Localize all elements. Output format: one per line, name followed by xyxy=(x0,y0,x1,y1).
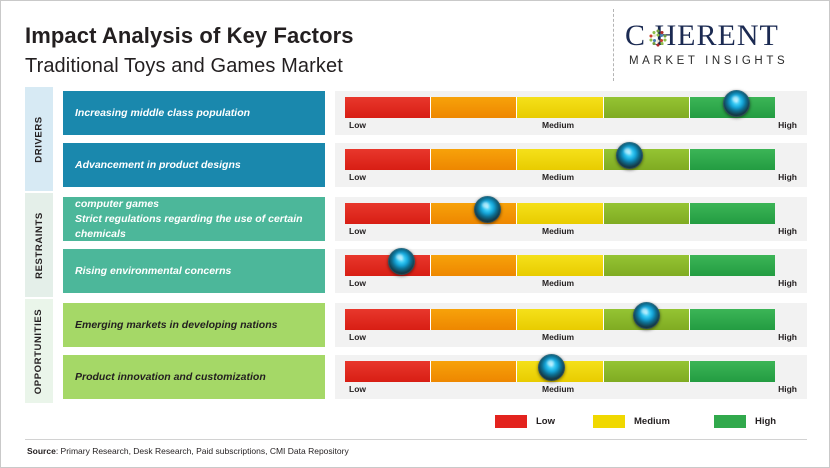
source-text: : Primary Research, Desk Research, Paid … xyxy=(56,446,349,456)
impact-matrix: DRIVERS Increasing middle class populati… xyxy=(1,87,830,407)
scale-segment-3 xyxy=(517,97,603,118)
scale-segment-1 xyxy=(345,361,431,382)
scale-segment-1 xyxy=(345,97,431,118)
gradient-bar xyxy=(345,203,775,224)
tick-low: Low xyxy=(349,120,366,130)
scale-segment-4 xyxy=(604,361,690,382)
gradient-bar xyxy=(345,97,775,118)
tick-medium: Medium xyxy=(542,384,574,394)
tick-high: High xyxy=(778,384,797,394)
scale-segment-1 xyxy=(345,149,431,170)
scale-segment-5 xyxy=(690,309,775,330)
impact-scale-row: Low Medium High xyxy=(335,143,807,187)
scale-segment-3 xyxy=(517,149,603,170)
impact-scale-row: Low Medium High xyxy=(335,303,807,347)
page-title: Impact Analysis of Key Factors xyxy=(25,23,354,49)
factor-label: Product innovation and customization xyxy=(75,370,266,385)
impact-marker[interactable] xyxy=(633,302,660,329)
group-band-opportunities: OPPORTUNITIES xyxy=(25,299,53,403)
factor-label: Growing inclination towards smartphones … xyxy=(75,197,313,241)
tick-low: Low xyxy=(349,384,366,394)
source-prefix: Source xyxy=(27,446,56,456)
factor-label: Emerging markets in developing nations xyxy=(75,318,277,333)
factor-label: Advancement in product designs xyxy=(75,158,241,173)
gradient-bar xyxy=(345,149,775,170)
scale-segment-4 xyxy=(604,97,690,118)
scale-segment-5 xyxy=(690,203,775,224)
group-opportunities: OPPORTUNITIES Emerging markets in develo… xyxy=(25,299,325,403)
factor-box[interactable]: Rising environmental concerns xyxy=(63,249,325,293)
logo-tagline: MARKET INSIGHTS xyxy=(629,55,788,67)
impact-marker[interactable] xyxy=(388,248,415,275)
source-note: Source: Primary Research, Desk Research,… xyxy=(27,446,349,456)
group-label-opportunities: OPPORTUNITIES xyxy=(34,308,45,393)
legend: Low Medium High xyxy=(495,415,795,435)
factor-box[interactable]: Product innovation and customization xyxy=(63,355,325,399)
infographic-page: Impact Analysis of Key Factors Tradition… xyxy=(0,0,830,468)
tick-medium: Medium xyxy=(542,120,574,130)
scale-segment-5 xyxy=(690,361,775,382)
impact-scale-row: Low Medium High xyxy=(335,249,807,293)
legend-item-low: Low xyxy=(495,415,555,428)
factor-box[interactable]: Emerging markets in developing nations xyxy=(63,303,325,347)
scale-segment-3 xyxy=(517,203,603,224)
factor-label: Rising environmental concerns xyxy=(75,264,231,279)
tick-medium: Medium xyxy=(542,172,574,182)
scale-segment-4 xyxy=(604,255,690,276)
tick-low: Low xyxy=(349,332,366,342)
tick-low: Low xyxy=(349,172,366,182)
group-label-drivers: DRIVERS xyxy=(34,116,45,162)
group-drivers: DRIVERS Increasing middle class populati… xyxy=(25,87,325,191)
tick-high: High xyxy=(778,278,797,288)
gradient-bar xyxy=(345,309,775,330)
legend-swatch-medium xyxy=(593,415,625,428)
legend-swatch-low xyxy=(495,415,527,428)
legend-label: Medium xyxy=(634,416,670,427)
group-restraints: RESTRAINTS Growing inclination towards s… xyxy=(25,193,325,297)
scale-segment-5 xyxy=(690,255,775,276)
factor-box[interactable]: Advancement in product designs xyxy=(63,143,325,187)
legend-item-medium: Medium xyxy=(593,415,670,428)
scale-segment-3 xyxy=(517,255,603,276)
scale-segment-1 xyxy=(345,203,431,224)
group-band-restraints: RESTRAINTS xyxy=(25,193,53,297)
factor-label: Increasing middle class population xyxy=(75,106,250,121)
scale-segment-2 xyxy=(431,255,517,276)
legend-label: High xyxy=(755,416,776,427)
impact-scale-row: Low Medium High xyxy=(335,197,807,241)
impact-marker[interactable] xyxy=(616,142,643,169)
impact-scale-row: Low Medium High xyxy=(335,91,807,135)
scale-segment-1 xyxy=(345,309,431,330)
coherent-market-insights-logo: C HERENT xyxy=(625,19,821,77)
tick-low: Low xyxy=(349,278,366,288)
group-label-restraints: RESTRAINTS xyxy=(34,212,45,279)
tick-high: High xyxy=(778,172,797,182)
group-band-drivers: DRIVERS xyxy=(25,87,53,191)
tick-high: High xyxy=(778,226,797,236)
tick-medium: Medium xyxy=(542,332,574,342)
header: Impact Analysis of Key Factors Tradition… xyxy=(1,1,830,87)
impact-marker[interactable] xyxy=(474,196,501,223)
scale-segment-2 xyxy=(431,361,517,382)
scale-segment-3 xyxy=(517,309,603,330)
globe-icon xyxy=(648,28,668,48)
tick-medium: Medium xyxy=(542,278,574,288)
scale-segment-5 xyxy=(690,149,775,170)
legend-swatch-high xyxy=(714,415,746,428)
scale-segment-2 xyxy=(431,309,517,330)
tick-medium: Medium xyxy=(542,226,574,236)
scale-segment-2 xyxy=(431,149,517,170)
impact-scale-row: Low Medium High xyxy=(335,355,807,399)
tick-high: High xyxy=(778,332,797,342)
legend-item-high: High xyxy=(714,415,776,428)
page-subtitle: Traditional Toys and Games Market xyxy=(25,55,343,78)
tick-low: Low xyxy=(349,226,366,236)
factor-box[interactable]: Growing inclination towards smartphones … xyxy=(63,197,325,241)
legend-label: Low xyxy=(536,416,555,427)
tick-high: High xyxy=(778,120,797,130)
source-divider xyxy=(25,439,807,440)
factor-box[interactable]: Increasing middle class population xyxy=(63,91,325,135)
logo-divider xyxy=(613,9,614,81)
scale-segment-2 xyxy=(431,97,517,118)
scale-segment-4 xyxy=(604,203,690,224)
